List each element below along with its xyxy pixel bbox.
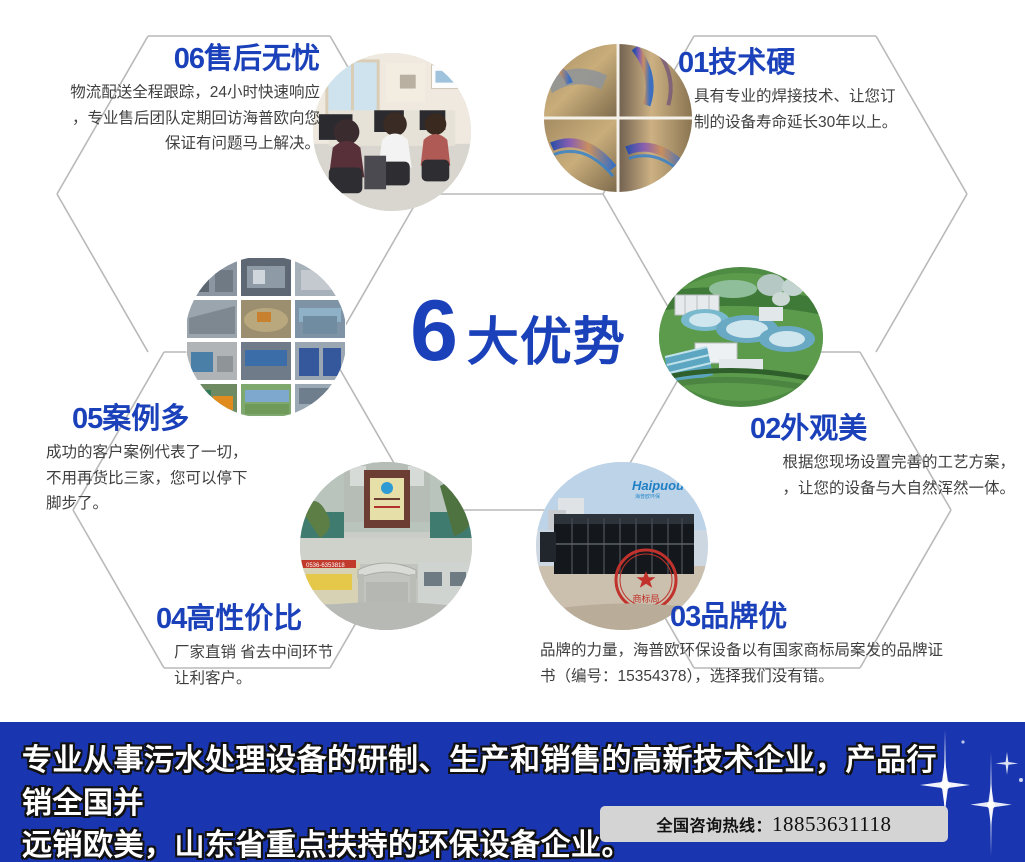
- advantage-block-03: 03品牌优 品牌的力量，海普欧环保设备以有国家商标局案发的品牌证 书（编号：15…: [540, 602, 1020, 689]
- advantage-title-03: 03品牌优: [670, 602, 1020, 632]
- infographic-root: 6 大优势: [0, 0, 1025, 862]
- advantage-body-03: 品牌的力量，海普欧环保设备以有国家商标局案发的品牌证 书（编号：15354378…: [540, 638, 1020, 688]
- advantage-number-01: 01: [678, 47, 708, 79]
- case-grid-collage-photo: [185, 256, 347, 418]
- advantage-body-line: 物流配送全程跟踪，24小时快速响应: [10, 80, 320, 105]
- hotline-number: 18853631118: [772, 812, 891, 837]
- advantage-body-line: 保证有问题马上解决。: [10, 131, 320, 156]
- photo-circle-06: [313, 53, 471, 211]
- welded-pipe-joints-photo: [544, 44, 692, 192]
- advantage-title-05: 05案例多: [72, 404, 402, 434]
- advantage-body-line: 厂家直销 省去中间环节: [174, 640, 486, 665]
- advantage-number-06: 06: [174, 43, 204, 75]
- advantage-body-line: 让利客户。: [174, 666, 486, 691]
- advantage-block-01: 01技术硬 具有专业的焊接技术、让您订 制的设备寿命延长30年以上。: [678, 48, 1008, 135]
- advantage-block-04: 04高性价比 厂家直销 省去中间环节 让利客户。: [156, 604, 486, 691]
- svg-text:0536-6353818: 0536-6353818: [306, 563, 345, 569]
- advantage-block-05: 05案例多 成功的客户案例代表了一切， 不用再货比三家，您可以停下 脚步了。: [72, 404, 402, 516]
- advantage-number-03: 03: [670, 601, 700, 633]
- advantage-title-text-01: 技术硬: [708, 47, 795, 79]
- center-number: 6: [410, 288, 457, 374]
- hotline-badge: 全国咨询热线： 18853631118: [600, 806, 948, 842]
- advantage-body-04: 厂家直销 省去中间环节 让利客户。: [174, 640, 486, 690]
- advantage-body-line: ，让您的设备与大自然浑然一体。: [690, 476, 1015, 501]
- advantage-body-line: 书（编号：15354378），选择我们没有错。: [540, 664, 1020, 689]
- advantage-body-05: 成功的客户案例代表了一切， 不用再货比三家，您可以停下 脚步了。: [46, 440, 402, 515]
- advantage-title-text-02: 外观美: [780, 413, 867, 445]
- advantage-body-line: 成功的客户案例代表了一切，: [46, 440, 402, 465]
- advantage-block-06: 06售后无忧 物流配送全程跟踪，24小时快速响应 ，专业售后团队定期回访海普欧向…: [10, 44, 320, 156]
- advantage-title-01: 01技术硬: [678, 48, 1008, 78]
- svg-text:Haipuou: Haipuou: [632, 478, 684, 493]
- advantage-number-02: 02: [750, 413, 780, 445]
- advantage-title-text-03: 品牌优: [700, 601, 787, 633]
- advantage-title-04: 04高性价比: [156, 604, 486, 634]
- advantage-body-02: 根据您现场设置完善的工艺方案， ，让您的设备与大自然浑然一体。: [690, 450, 1015, 500]
- advantage-body-06: 物流配送全程跟踪，24小时快速响应 ，专业售后团队定期回访海普欧向您 保证有问题…: [10, 80, 320, 155]
- advantage-body-line: 具有专业的焊接技术、让您订: [694, 84, 1008, 109]
- center-title: 6 大优势: [378, 288, 658, 378]
- advantage-body-line: 根据您现场设置完善的工艺方案，: [690, 450, 1015, 475]
- photo-circle-01: [544, 44, 692, 192]
- advantage-body-01: 具有专业的焊接技术、让您订 制的设备寿命延长30年以上。: [694, 84, 1008, 134]
- banner-text: 专业从事污水处理设备的研制、生产和销售的高新技术企业，产品行销全国并 远销欧美，…: [22, 740, 962, 862]
- advantage-body-line: 脚步了。: [46, 491, 402, 516]
- advantage-title-text-05: 案例多: [102, 403, 189, 435]
- photo-circle-05: [185, 256, 347, 418]
- advantage-body-line: ，专业售后团队定期回访海普欧向您: [10, 106, 320, 131]
- advantage-number-04: 04: [156, 603, 186, 635]
- advantage-body-line: 品牌的力量，海普欧环保设备以有国家商标局案发的品牌证: [540, 638, 1020, 663]
- svg-text:海普欧环保: 海普欧环保: [635, 493, 660, 500]
- advantage-title-text-06: 售后无忧: [204, 43, 320, 75]
- advantage-block-02: 02外观美 根据您现场设置完善的工艺方案， ，让您的设备与大自然浑然一体。: [690, 414, 1015, 501]
- advantage-title-text-04: 高性价比: [186, 603, 302, 635]
- advantage-title-02: 02外观美: [750, 414, 1015, 444]
- advantage-body-line: 制的设备寿命延长30年以上。: [694, 110, 1008, 135]
- office-staff-photo: [313, 53, 471, 211]
- aerial-wastewater-plant-photo: [659, 267, 823, 407]
- hotline-label: 全国咨询热线：: [657, 812, 773, 836]
- center-word: 大优势: [467, 317, 626, 369]
- photo-circle-02: [659, 267, 823, 407]
- advantage-body-line: 不用再货比三家，您可以停下: [46, 466, 402, 491]
- advantage-title-06: 06售后无忧: [10, 44, 320, 74]
- advantage-number-05: 05: [72, 403, 102, 435]
